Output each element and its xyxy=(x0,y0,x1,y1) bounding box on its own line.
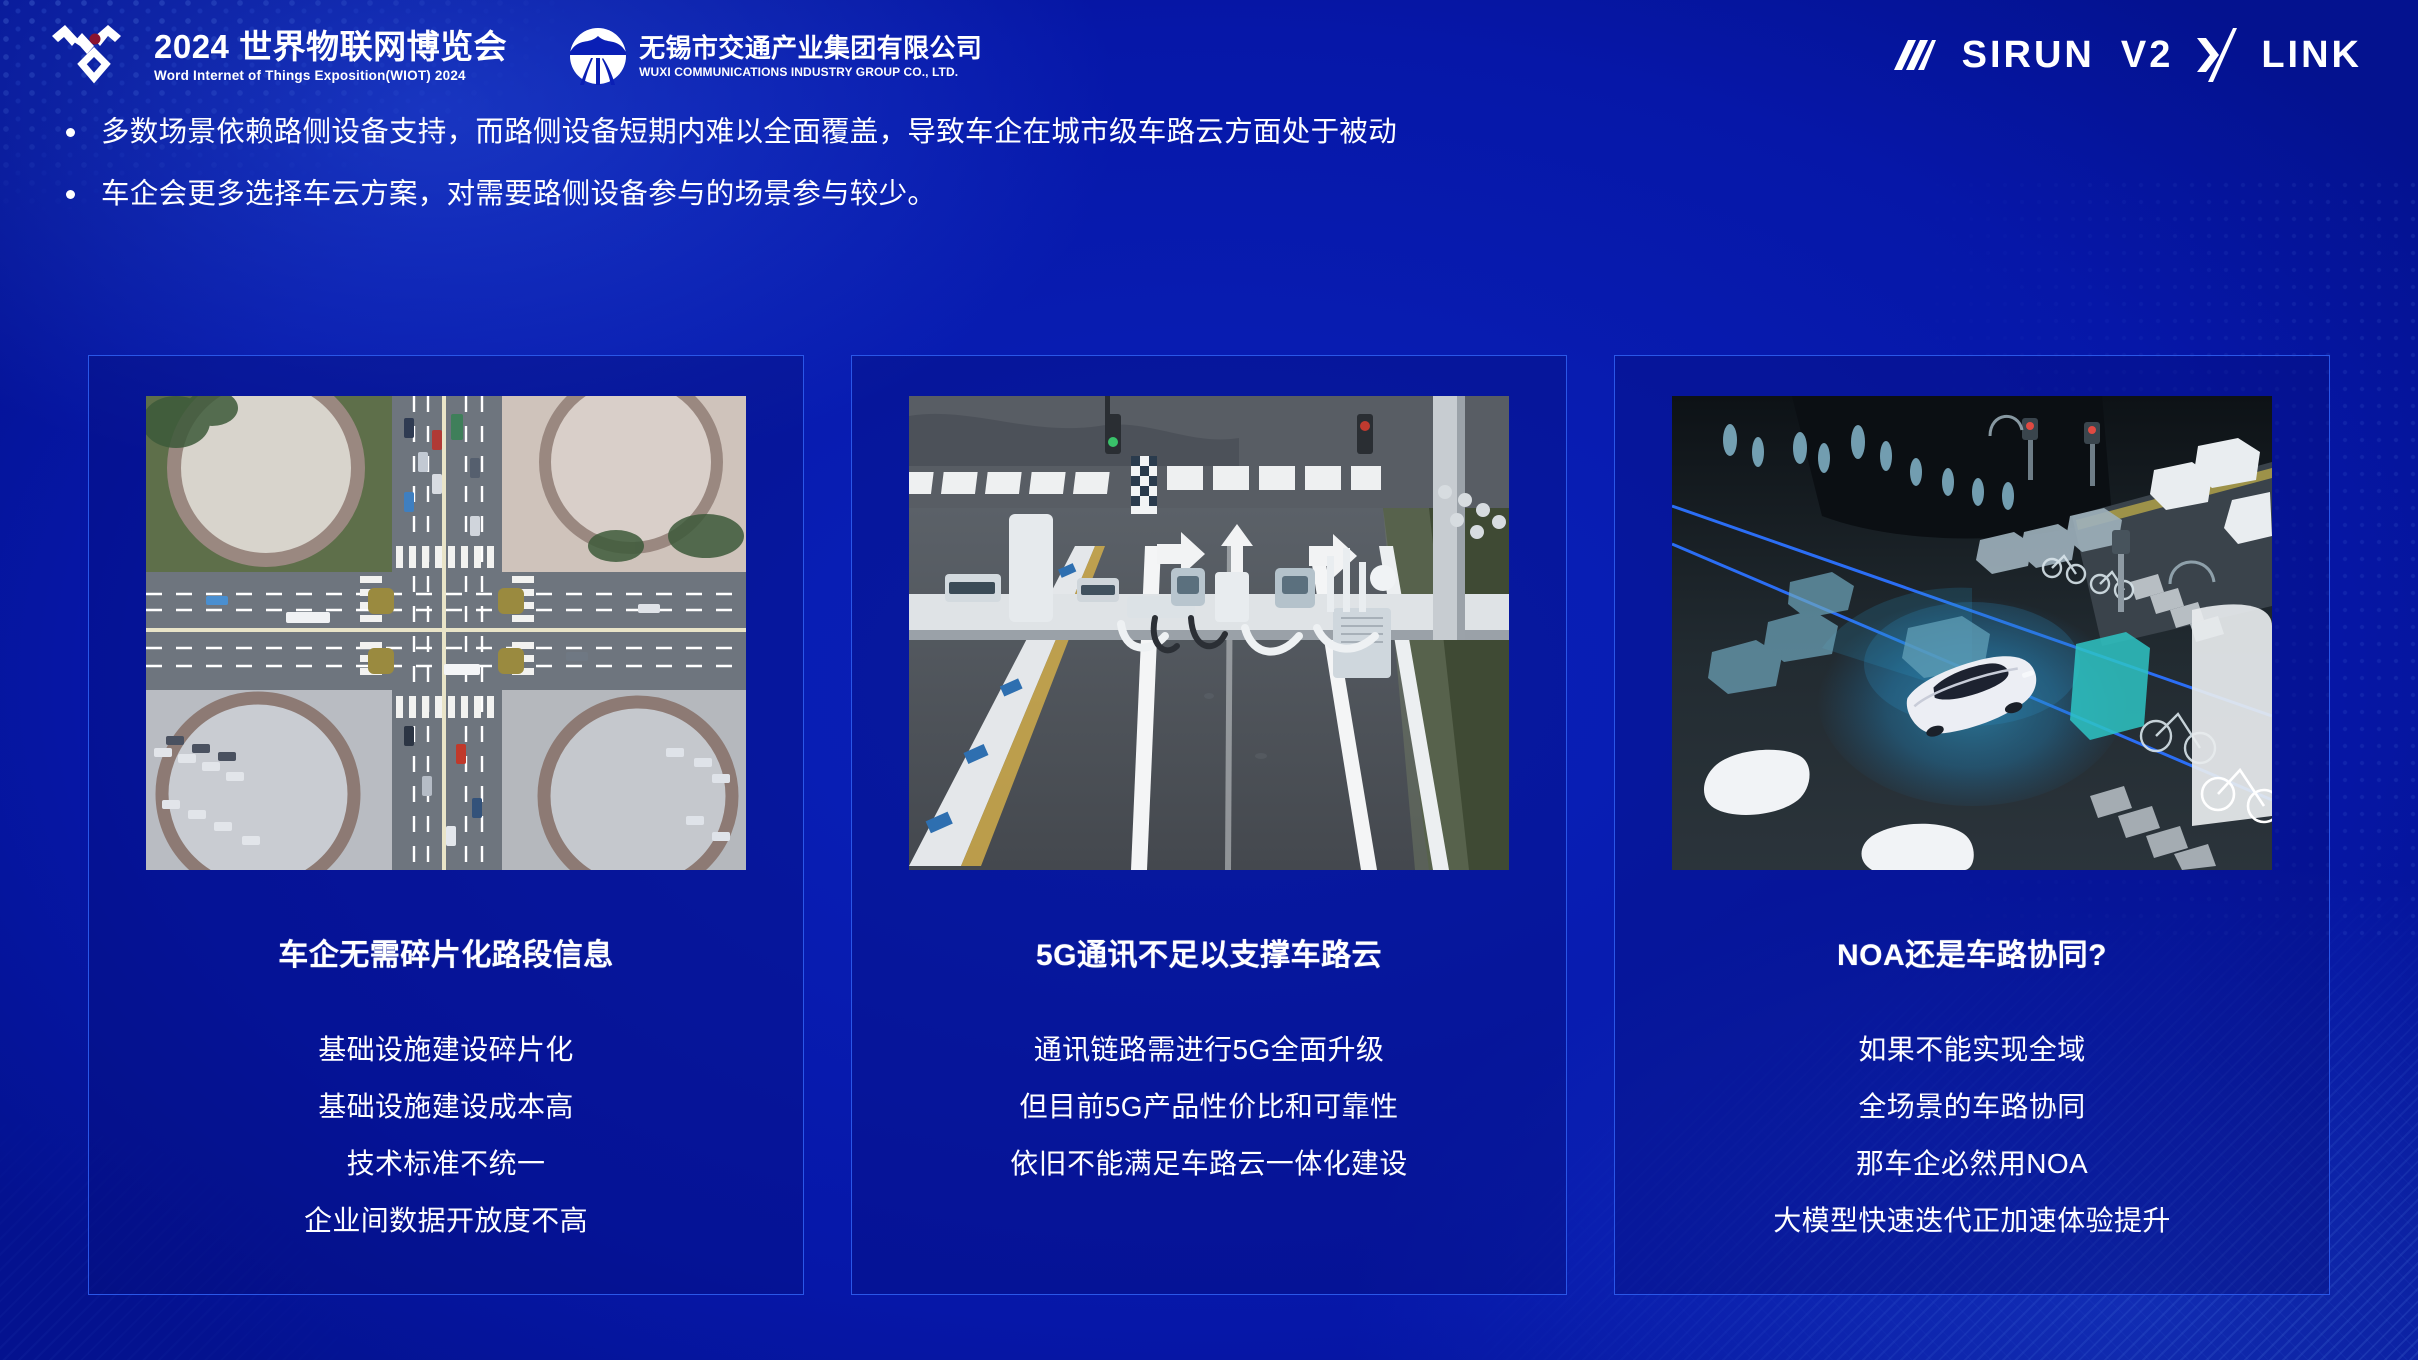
slide-header: 2024 世界物联网博览会 Word Internet of Things Ex… xyxy=(0,0,2418,112)
card-title: 5G通讯不足以支撑车路云 xyxy=(1036,930,1382,974)
card-title: NOA还是车路协同? xyxy=(1837,930,2107,974)
wuxi-title: 无锡市交通产业集团有限公司 xyxy=(639,32,982,64)
card-line: 全场景的车路协同 xyxy=(1773,1087,2171,1127)
card-body: 基础设施建设碎片化 基础设施建设成本高 技术标准不统一 企业间数据开放度不高 xyxy=(304,1030,588,1241)
sirun-wordmark: SIRUN xyxy=(1962,31,2095,79)
link-wordmark: LINK xyxy=(2261,31,2362,79)
card-line: 依旧不能满足车路云一体化建设 xyxy=(1010,1144,1408,1184)
card-line: 那车企必然用NOA xyxy=(1773,1144,2171,1184)
wiot-title: 2024 世界物联网博览会 xyxy=(154,27,507,67)
wuxi-emblem-icon xyxy=(569,25,627,87)
card-line: 但目前5G产品性价比和可靠性 xyxy=(1010,1087,1408,1127)
card-fragmented-road-info: 车企无需碎片化路段信息 基础设施建设碎片化 基础设施建设成本高 技术标准不统一 … xyxy=(88,355,804,1295)
card-row: 车企无需碎片化路段信息 基础设施建设碎片化 基础设施建设成本高 技术标准不统一 … xyxy=(88,355,2330,1295)
autonomous-driving-perception-photo xyxy=(1672,396,2272,870)
partner-logos: SIRUN V2 LINK xyxy=(1894,28,2362,82)
v2x-wordmark: V2 xyxy=(2121,31,2173,79)
card-line: 通讯链路需进行5G全面升级 xyxy=(1010,1030,1408,1070)
bullet-dot-icon xyxy=(66,190,75,199)
aerial-intersection-photo xyxy=(146,396,746,870)
wiot-w-mark-icon xyxy=(48,22,140,90)
bullet-list: 多数场景依赖路侧设备支持，而路侧设备短期内难以全面覆盖，导致车企在城市级车路云方… xyxy=(66,112,2126,236)
sirun-slashes-icon xyxy=(1894,40,1936,70)
card-line: 基础设施建设碎片化 xyxy=(304,1030,588,1070)
card-line: 企业间数据开放度不高 xyxy=(304,1201,588,1241)
card-5g-insufficient: 5G通讯不足以支撑车路云 通讯链路需进行5G全面升级 但目前5G产品性价比和可靠… xyxy=(851,355,1567,1295)
card-body: 通讯链路需进行5G全面升级 但目前5G产品性价比和可靠性 依旧不能满足车路云一体… xyxy=(1010,1030,1408,1184)
bullet-item: 多数场景依赖路侧设备支持，而路侧设备短期内难以全面覆盖，导致车企在城市级车路云方… xyxy=(66,112,2126,152)
card-line: 技术标准不统一 xyxy=(304,1144,588,1184)
slide-canvas: 2024 世界物联网博览会 Word Internet of Things Ex… xyxy=(0,0,2418,1360)
card-noa-vs-v2x: NOA还是车路协同? 如果不能实现全域 全场景的车路协同 那车企必然用NOA 大… xyxy=(1614,355,2330,1295)
wuxi-subtitle: WUXI COMMUNICATIONS INDUSTRY GROUP CO., … xyxy=(639,64,982,80)
v2x-x-icon xyxy=(2197,28,2237,82)
card-line: 基础设施建设成本高 xyxy=(304,1087,588,1127)
wiot-brand: 2024 世界物联网博览会 Word Internet of Things Ex… xyxy=(48,22,507,90)
bullet-dot-icon xyxy=(66,128,75,137)
wuxi-brand: 无锡市交通产业集团有限公司 WUXI COMMUNICATIONS INDUST… xyxy=(569,25,982,87)
bullet-text: 车企会更多选择车云方案，对需要路侧设备参与的场景参与较少。 xyxy=(101,174,936,214)
wiot-subtitle: Word Internet of Things Exposition(WIOT)… xyxy=(154,67,507,85)
card-line: 如果不能实现全域 xyxy=(1773,1030,2171,1070)
bullet-item: 车企会更多选择车云方案，对需要路侧设备参与的场景参与较少。 xyxy=(66,174,2126,214)
card-title: 车企无需碎片化路段信息 xyxy=(278,930,614,974)
card-body: 如果不能实现全域 全场景的车路协同 那车企必然用NOA 大模型快速迭代正加速体验… xyxy=(1773,1030,2171,1241)
bullet-text: 多数场景依赖路侧设备支持，而路侧设备短期内难以全面覆盖，导致车企在城市级车路云方… xyxy=(101,112,1397,152)
card-line: 大模型快速迭代正加速体验提升 xyxy=(1773,1201,2171,1241)
roadside-gantry-sensors-photo xyxy=(909,396,1509,870)
